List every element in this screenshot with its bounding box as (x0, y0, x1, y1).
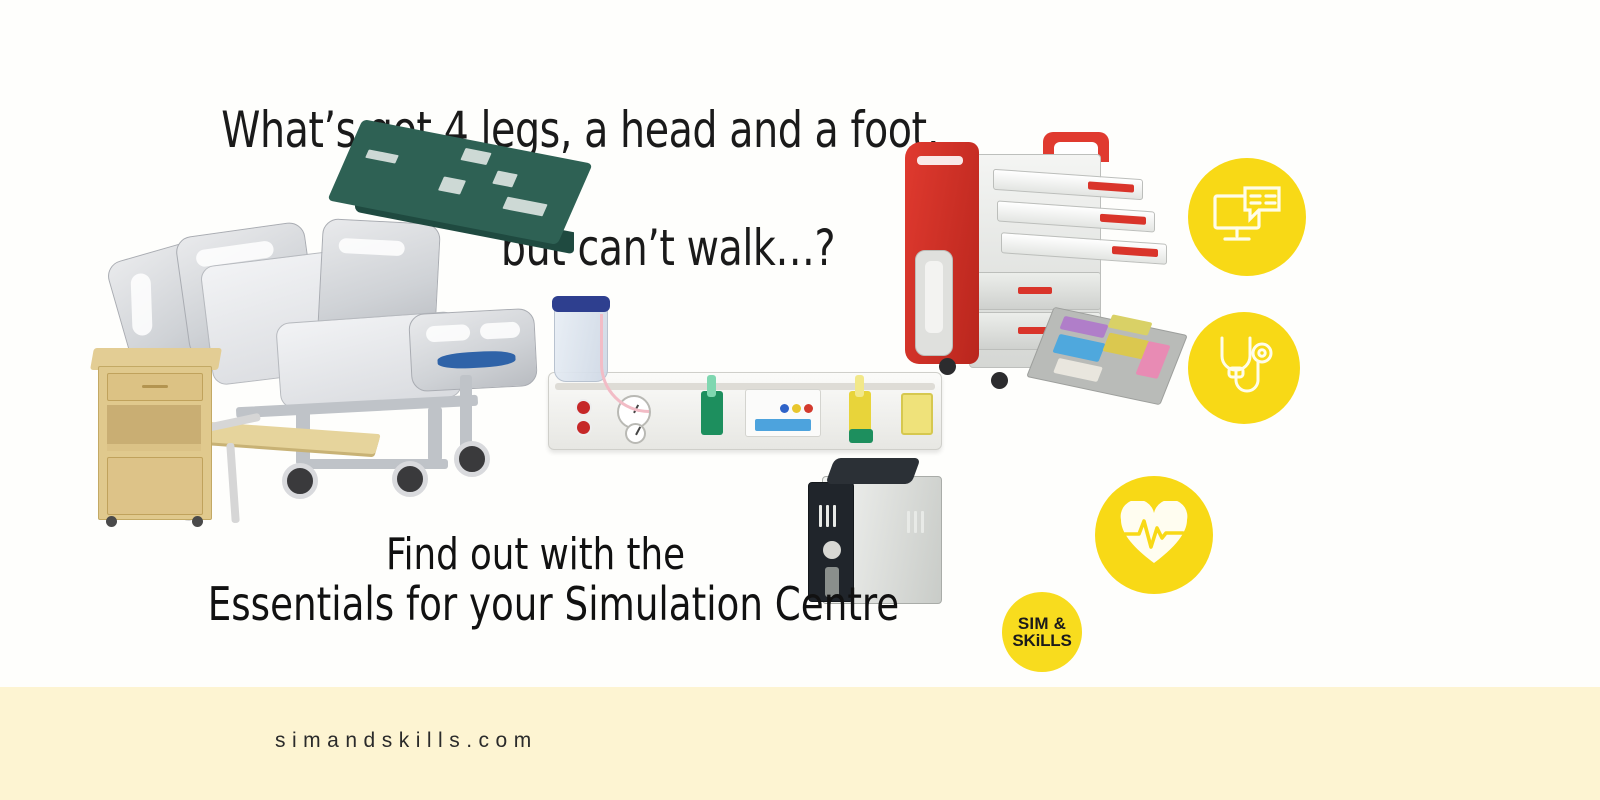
cta-line-2: Essentials for your Simulation Centre (180, 579, 927, 631)
logo-line-2: SKiLLS (1012, 632, 1071, 649)
footer-bar: simandskills.com (0, 687, 1600, 800)
stethoscope-icon (1188, 312, 1300, 424)
supply-tray (1040, 298, 1180, 414)
monitor-chat-icon (1188, 158, 1306, 276)
cta-text: Find out with the Essentials for your Si… (180, 530, 927, 631)
compressor-handle (825, 458, 920, 484)
bedside-cabinet (92, 340, 222, 525)
cta-line-1: Find out with the (180, 530, 927, 579)
bed-caster (392, 461, 428, 497)
cabinet-door (107, 457, 203, 515)
cabinet-shelf (107, 405, 201, 451)
bed-rail-foot (408, 308, 538, 392)
panel-power-socket (575, 419, 592, 436)
cart-caster (991, 372, 1008, 389)
canister-lid (552, 296, 610, 312)
cart-side-grip (915, 250, 953, 356)
cabinet-caster (106, 516, 117, 527)
bed-caster (454, 441, 490, 477)
heart-pulse-icon (1095, 476, 1213, 594)
cabinet-drawer (107, 373, 203, 401)
panel-power-socket (575, 399, 592, 416)
cabinet-caster (192, 516, 203, 527)
promotional-banner: What’s got 4 legs, a head and a foot, bu… (0, 0, 1600, 800)
panel-small-gauge (625, 423, 646, 444)
logo-line-1: SIM & (1018, 615, 1066, 632)
sim-and-skills-logo[interactable]: SIM & SKiLLS (1002, 592, 1082, 672)
website-url[interactable]: simandskills.com (275, 729, 538, 753)
panel-gas-outlet-vacuum (849, 391, 871, 433)
cart-caster (939, 358, 956, 375)
mattress (345, 138, 585, 263)
cabinet-body (98, 366, 212, 520)
panel-gas-outlet-oxygen (701, 391, 723, 435)
panel-control-plate (745, 389, 821, 437)
